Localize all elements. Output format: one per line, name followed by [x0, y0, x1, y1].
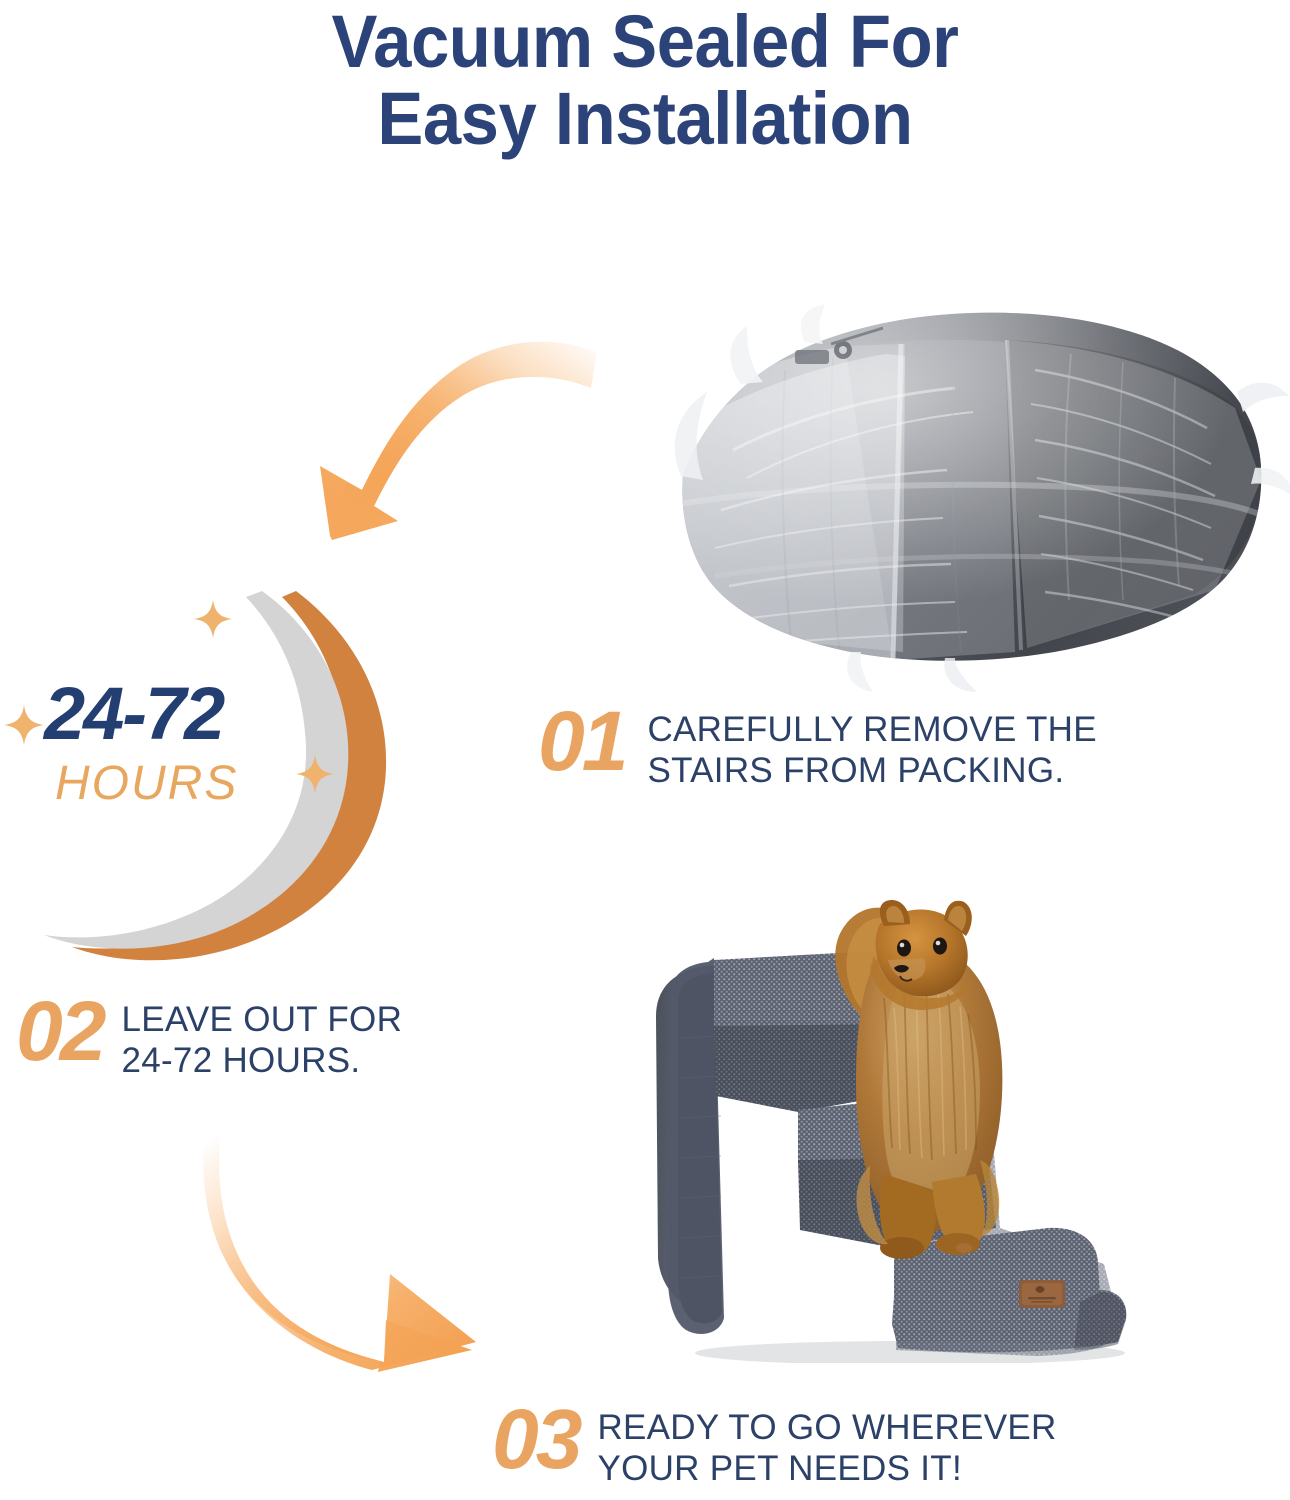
step-description-02-line-2: 24-72 HOURS. [121, 1041, 402, 1082]
badge-duration-value: 24-72 [44, 677, 223, 751]
step-item-02: 02 LEAVE OUT FOR 24-72 HOURS. [16, 995, 402, 1081]
sparkle-star-icon [294, 753, 336, 795]
step-description-01: CAREFULLY REMOVE THE STAIRS FROM PACKING… [647, 705, 1096, 791]
step-description-03-line-2: YOUR PET NEEDS IT! [597, 1449, 1056, 1490]
step-description-01-line-1: CAREFULLY REMOVE THE [647, 710, 1096, 751]
curved-arrow-down-left-icon [300, 318, 600, 573]
badge-duration-unit: HOURS [55, 760, 238, 808]
step-description-03: READY TO GO WHEREVER YOUR PET NEEDS IT! [597, 1403, 1056, 1489]
step-description-01-line-2: STAIRS FROM PACKING. [647, 751, 1096, 792]
sparkle-star-icon [2, 703, 46, 747]
vacuum-sealed-package-photo [655, 300, 1290, 700]
step-number-03: 03 [492, 1403, 579, 1475]
page-title-line-2: Easy Installation [45, 81, 1245, 158]
step-description-03-line-1: READY TO GO WHEREVER [597, 1408, 1056, 1449]
infographic-root: Vacuum Sealed For Easy Installation [0, 0, 1290, 1500]
step-number-01: 01 [538, 705, 625, 777]
step-item-03: 03 READY TO GO WHEREVER YOUR PET NEEDS I… [492, 1403, 1057, 1489]
page-title: Vacuum Sealed For Easy Installation [45, 4, 1245, 158]
pomeranian-dog [835, 900, 1002, 1259]
step-number-02: 02 [16, 995, 103, 1067]
page-title-line-1: Vacuum Sealed For [45, 4, 1245, 81]
step-item-01: 01 CAREFULLY REMOVE THE STAIRS FROM PACK… [538, 705, 1097, 791]
step-description-02: LEAVE OUT FOR 24-72 HOURS. [121, 995, 402, 1081]
brand-logo-tag [1019, 1280, 1065, 1308]
step-description-02-line-1: LEAVE OUT FOR [121, 1000, 402, 1041]
curved-arrow-down-right-icon [180, 1128, 530, 1383]
pet-stairs-with-dog-photo [648, 898, 1273, 1363]
duration-badge: 24-72 HOURS [0, 585, 420, 965]
sparkle-star-icon [192, 598, 234, 640]
